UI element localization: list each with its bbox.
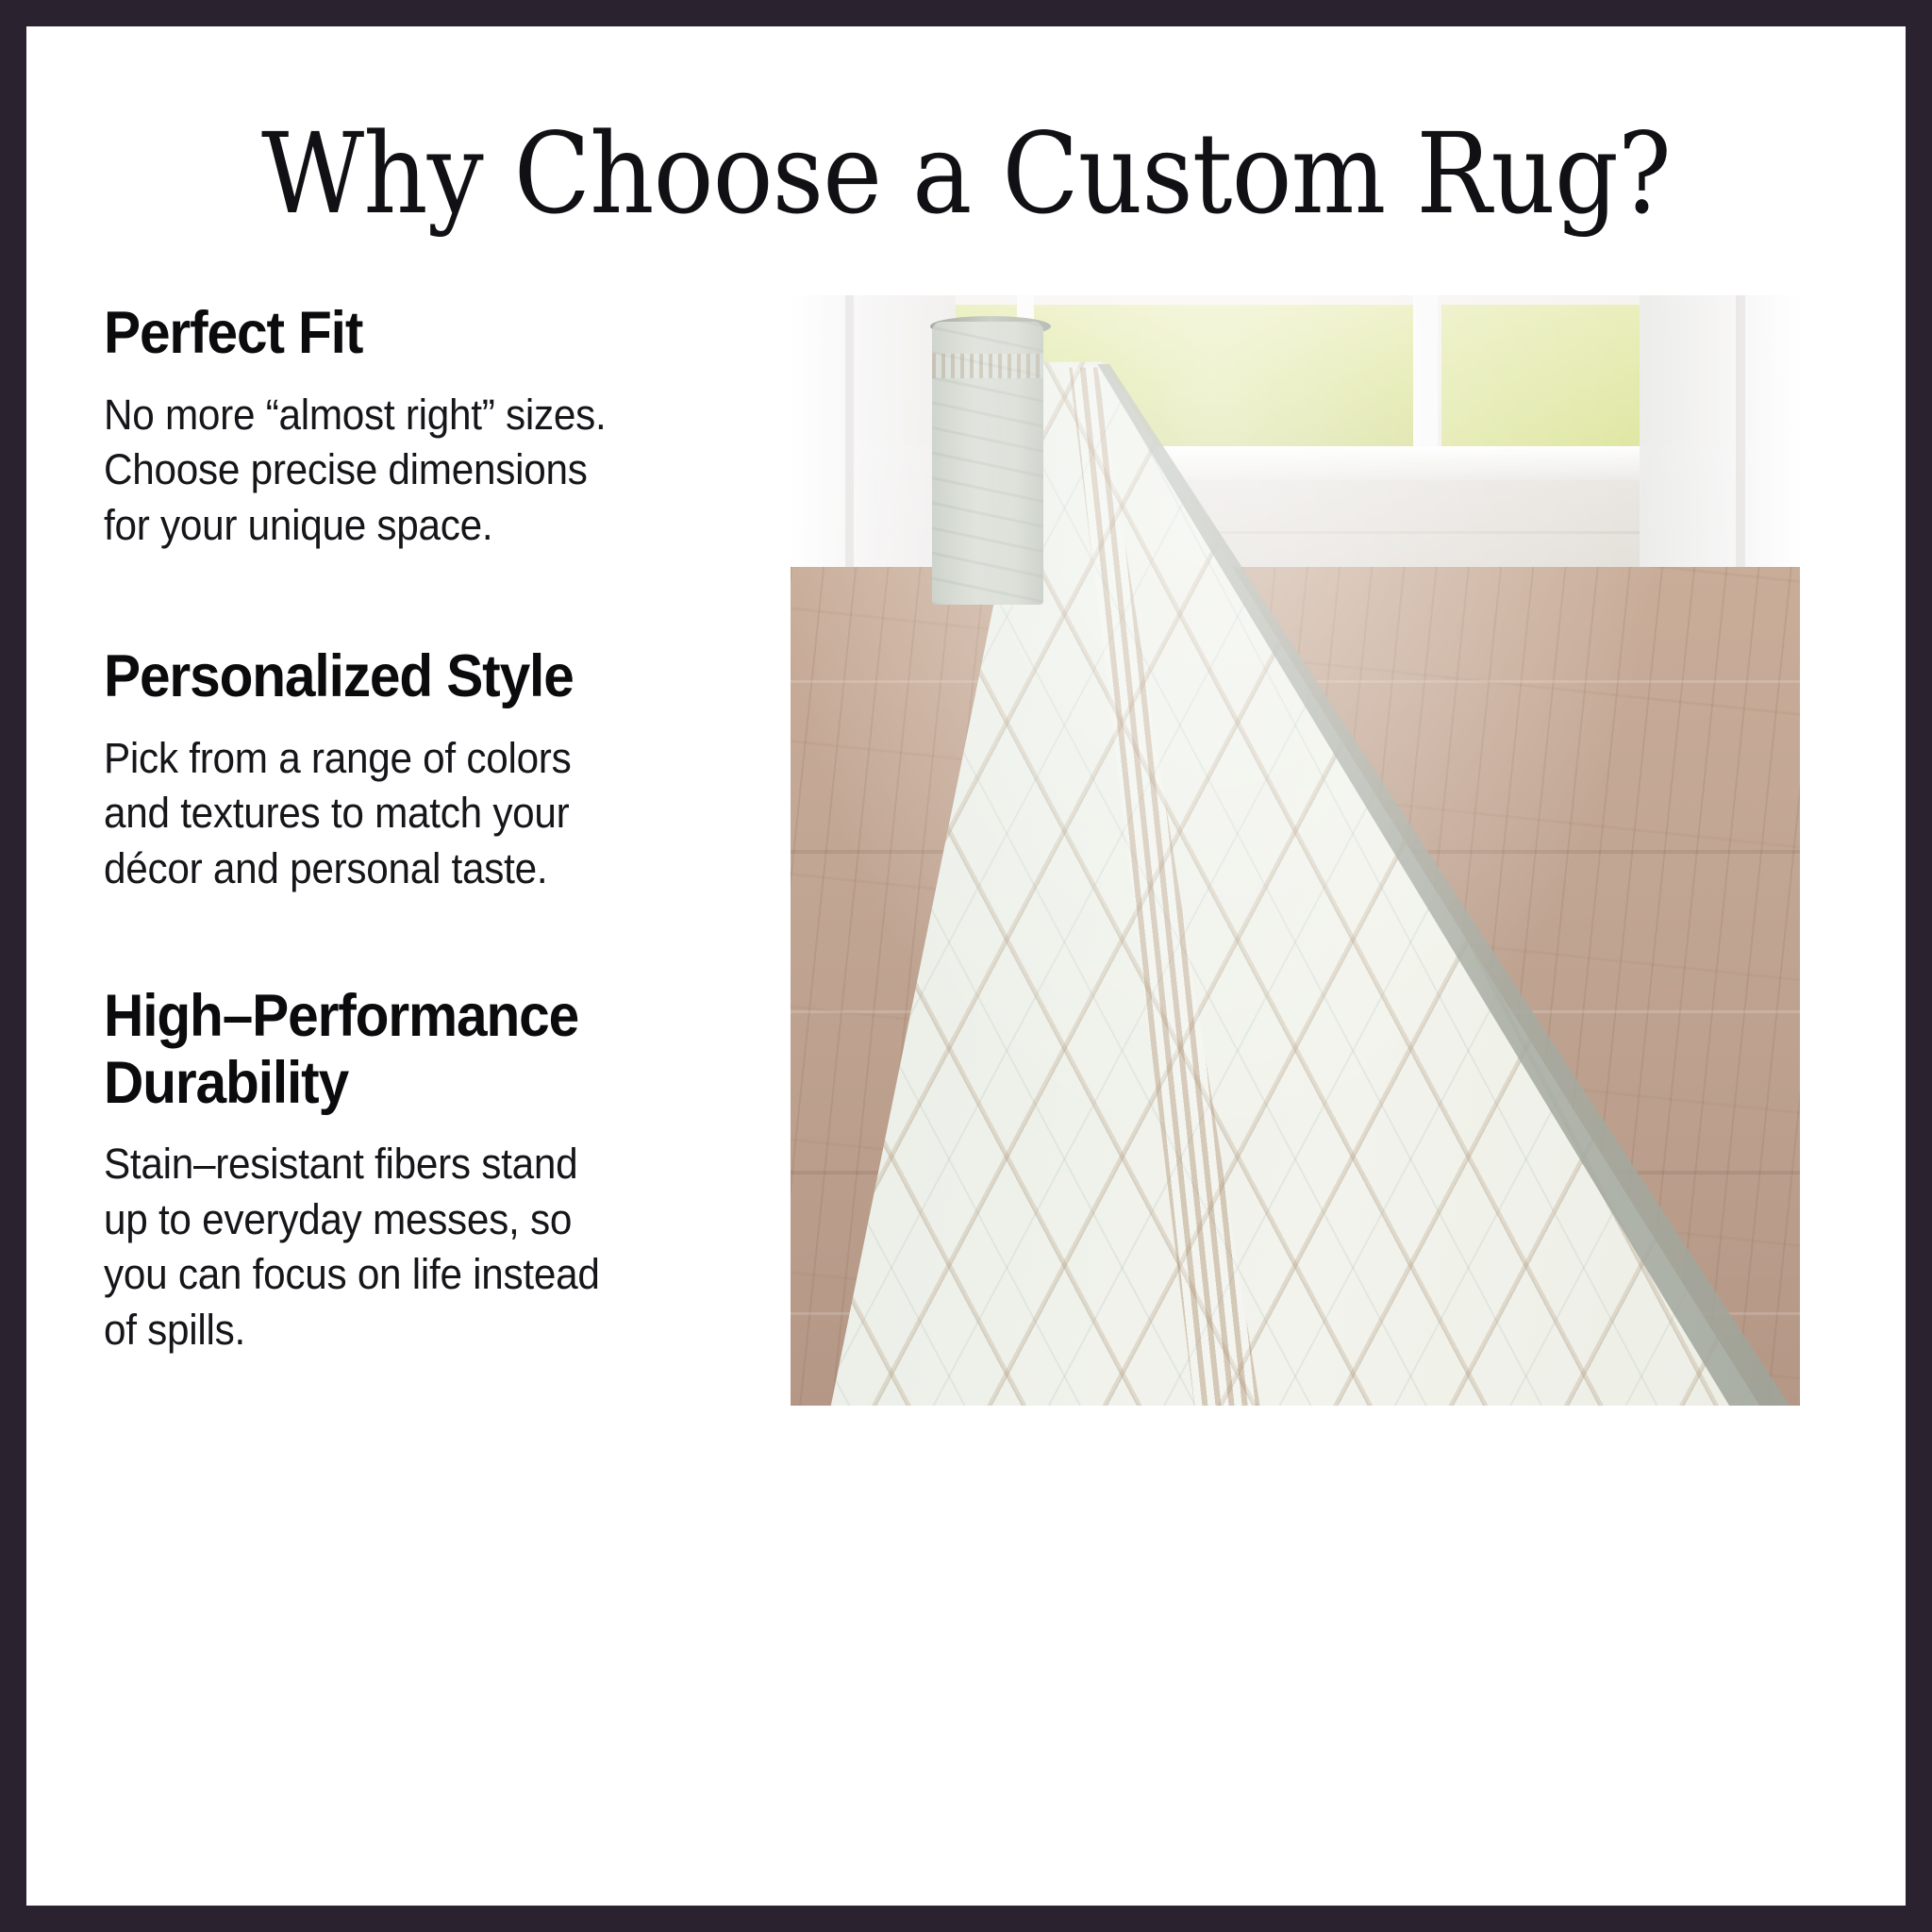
feature-item-high-performance-durability: High–Performance Durability Stain–resist… [104, 983, 764, 1357]
feature-heading: Perfect Fit [104, 300, 718, 367]
rug-roll-band [932, 354, 1043, 378]
feature-body: No more “almost right” sizes. Choose pre… [104, 388, 724, 554]
product-photo [791, 295, 1800, 1406]
photo-rug [791, 295, 1800, 1406]
feature-body: Stain–resistant fibers stand up to every… [104, 1137, 724, 1357]
feature-heading: High–Performance Durability [104, 983, 718, 1116]
poster-frame: Why Choose a Custom Rug? Perfect Fit No … [26, 26, 1906, 1906]
feature-item-perfect-fit: Perfect Fit No more “almost right” sizes… [104, 300, 764, 553]
page-title: Why Choose a Custom Rug? [121, 116, 1812, 233]
feature-list: Perfect Fit No more “almost right” sizes… [104, 300, 764, 1357]
feature-body: Pick from a range of colors and textures… [104, 731, 724, 897]
feature-item-personalized-style: Personalized Style Pick from a range of … [104, 643, 764, 896]
feature-heading: Personalized Style [104, 643, 718, 710]
